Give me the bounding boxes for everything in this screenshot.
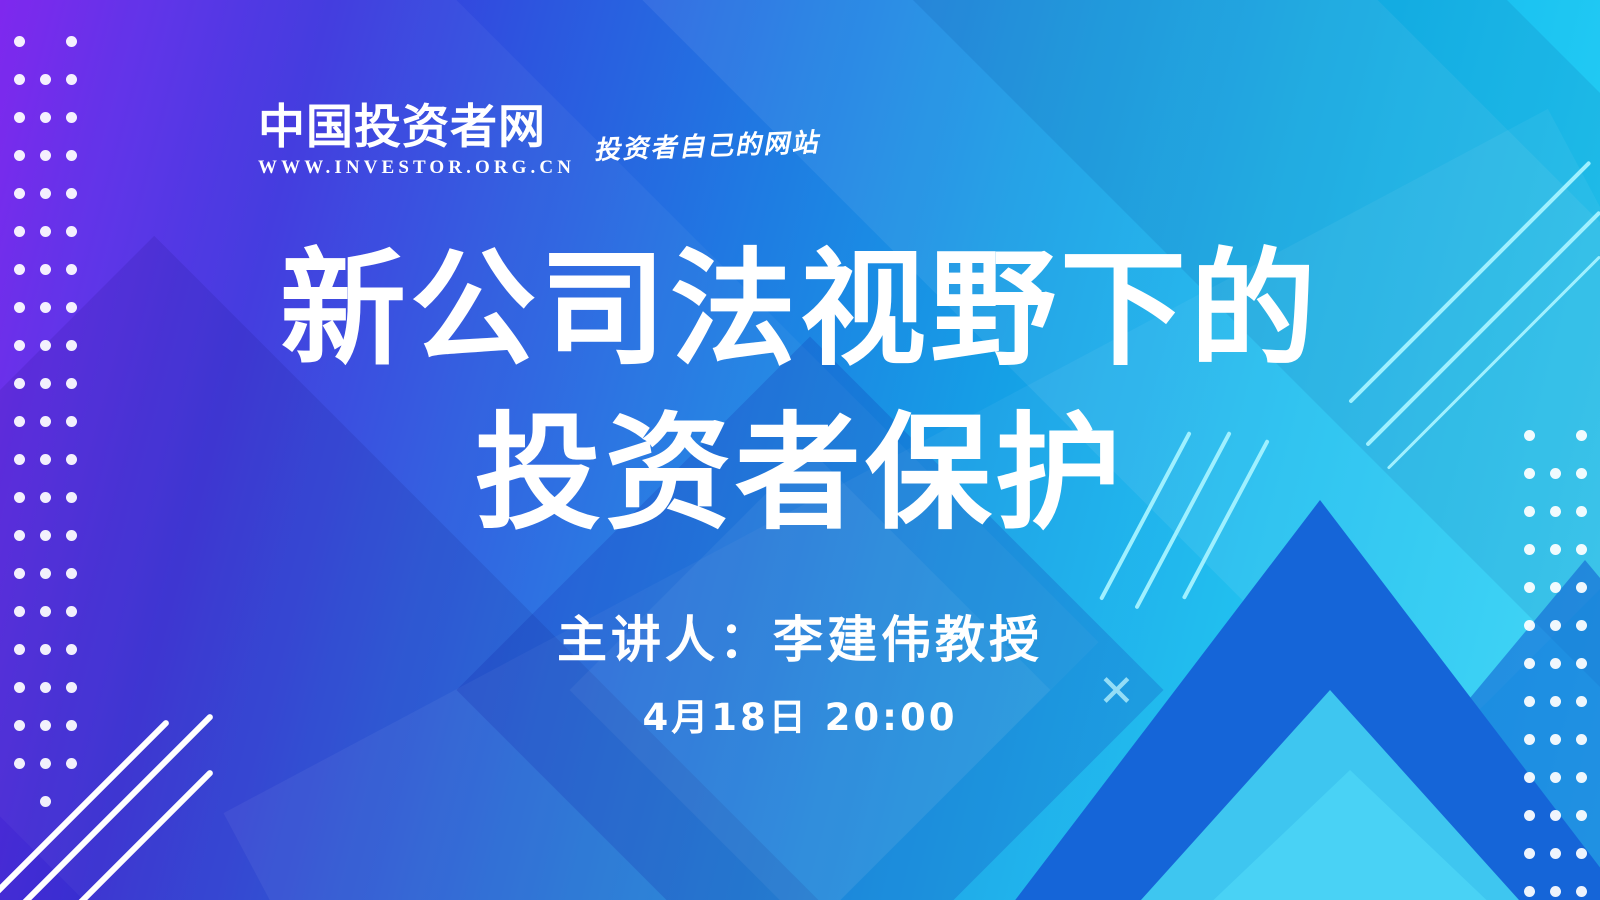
logo-website-url: WWW.INVESTOR.ORG.CN xyxy=(258,157,575,179)
logo-brand-name: 中国投资者网 xyxy=(258,104,575,152)
logo-main: 中国投资者网 WWW.INVESTOR.ORG.CN xyxy=(258,104,575,179)
site-logo[interactable]: 中国投资者网 WWW.INVESTOR.ORG.CN 投资者自己的网站 xyxy=(258,104,821,179)
logo-tagline: 投资者自己的网站 xyxy=(593,122,825,167)
event-datetime: 4月18日 20:00 xyxy=(0,687,1600,741)
main-title: 新公司法视野下的 投资者保护 xyxy=(0,228,1600,556)
title-line-2: 投资者保护 xyxy=(0,392,1600,556)
banner-content: 中国投资者网 WWW.INVESTOR.ORG.CN 投资者自己的网站 新公司法… xyxy=(0,0,1600,900)
speaker-name: 主讲人：李建伟教授 xyxy=(0,600,1600,672)
title-line-1: 新公司法视野下的 xyxy=(0,228,1600,392)
webinar-promo-banner: ✕ 中国投资者网 WWW.INVESTOR.ORG.CN 投资者自己的网站 新公… xyxy=(0,0,1600,900)
